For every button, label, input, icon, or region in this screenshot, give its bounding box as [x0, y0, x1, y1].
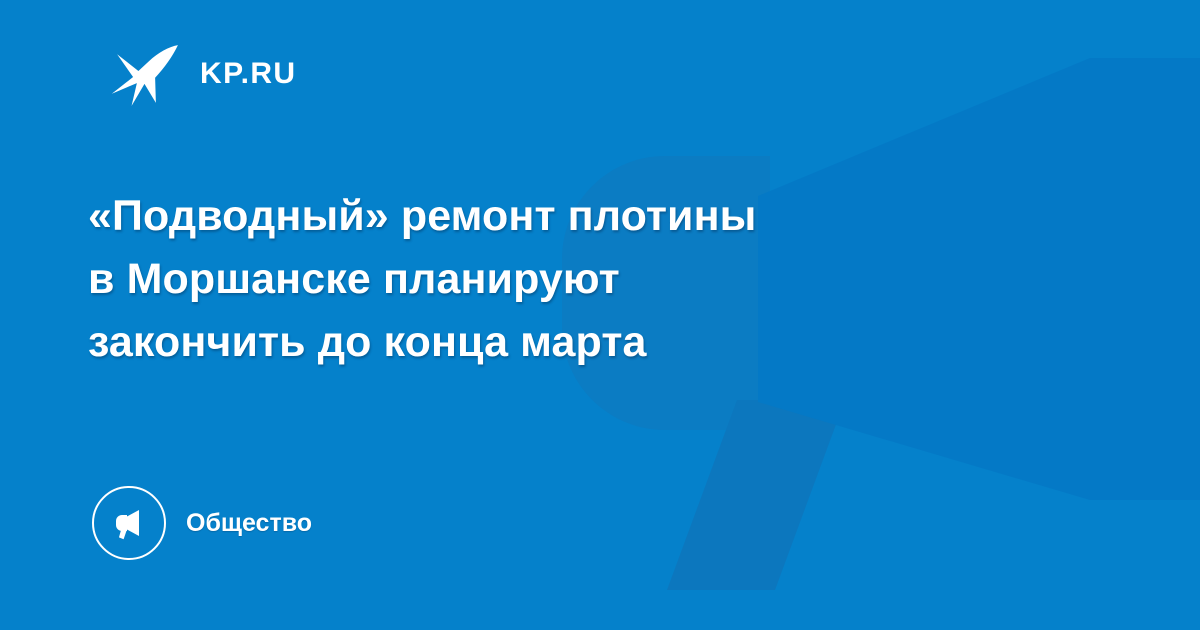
category-label: Общество: [186, 511, 312, 536]
swallow-bird-icon: [108, 36, 184, 112]
category-badge[interactable]: Общество: [92, 486, 312, 560]
brand-name: KP.RU: [200, 59, 296, 89]
megaphone-icon: [109, 503, 149, 543]
brand-logo[interactable]: KP.RU: [108, 38, 296, 110]
category-icon-circle: [92, 486, 166, 560]
article-share-card: KP.RU «Подводный» ремонт плотины в Морша…: [0, 0, 1200, 630]
page-title: «Подводный» ремонт плотины в Моршанске п…: [88, 185, 1018, 374]
